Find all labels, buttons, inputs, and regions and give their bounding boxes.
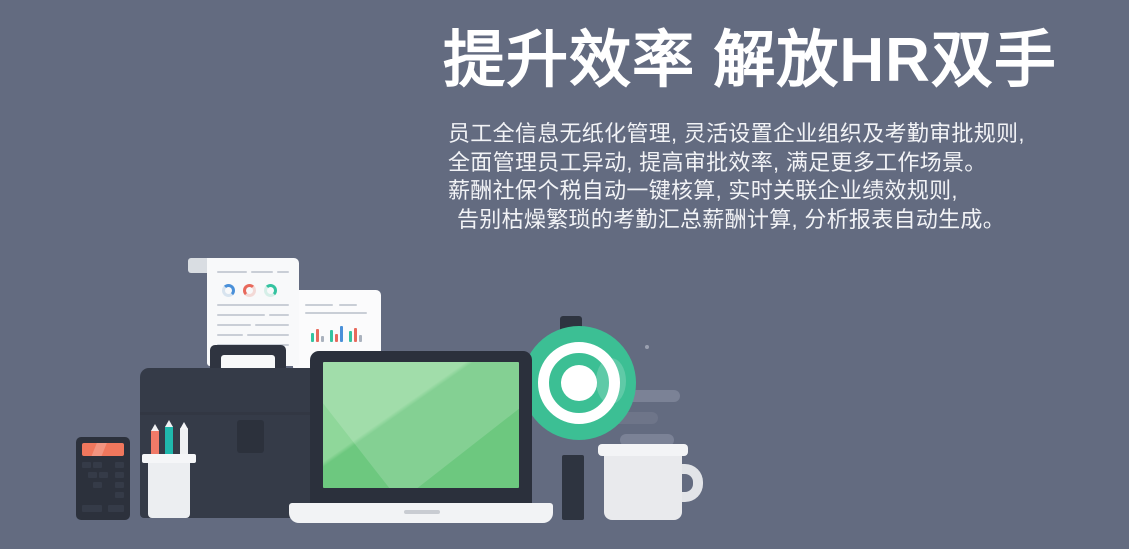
description-line-4: 告别枯燥繁琐的考勤汇总薪酬计算, 分析报表自动生成。 [448,206,1060,235]
calculator-key [115,482,124,488]
donut-chart-teal [264,284,277,297]
pencil-cup-rim [142,454,196,463]
calculator-key [115,462,124,468]
pencil-white [180,428,188,456]
calculator-key [88,472,97,478]
calculator-key [93,462,102,468]
laptop-trackpad [404,510,440,514]
document-back-barchart [311,324,367,342]
document-front-fold [188,258,208,273]
target-bullseye [561,365,597,401]
description-line-3: 薪酬社保个税自动一键核算, 实时关联企业绩效规则, [448,177,1060,206]
calculator-key [82,462,91,468]
mug-rim [598,444,688,456]
target-post-bottom [562,455,584,520]
calculator-display-shine [89,443,110,456]
banner-text-block: 提升效率 解放HR双手 员工全信息无纸化管理, 灵活设置企业组织及考勤审批规则,… [440,22,1060,234]
pencil-white-tip [180,422,188,429]
sparkle-dot-icon [645,345,649,349]
calculator-key [115,472,124,478]
calculator-key [93,482,102,488]
page-title: 提升效率 解放HR双手 [440,22,1060,100]
laptop-screen-shine [323,362,519,488]
laptop-screen [323,362,519,488]
donut-chart-red [243,284,256,297]
calculator-key [115,492,124,498]
briefcase-lock [237,420,264,453]
pencil-teal-tip [165,420,173,427]
pencil-red [151,430,159,456]
description-line-1: 员工全信息无纸化管理, 灵活设置企业组织及考勤审批规则, [448,120,1060,149]
banner-description: 员工全信息无纸化管理, 灵活设置企业组织及考勤审批规则, 全面管理员工异动, 提… [440,120,1060,234]
calculator-key [82,505,102,512]
calculator-display [82,443,124,456]
pencil-teal [165,426,173,456]
pencil-red-tip [151,424,159,431]
mug-body [604,452,682,520]
calculator-key [108,505,124,512]
hr-promo-banner: 提升效率 解放HR双手 员工全信息无纸化管理, 灵活设置企业组织及考勤审批规则,… [0,0,1129,549]
donut-chart-blue [222,284,235,297]
description-line-2: 全面管理员工异动, 提高审批效率, 满足更多工作场景。 [448,149,1060,178]
pencil-cup-body [148,460,190,518]
calculator-key [99,472,108,478]
